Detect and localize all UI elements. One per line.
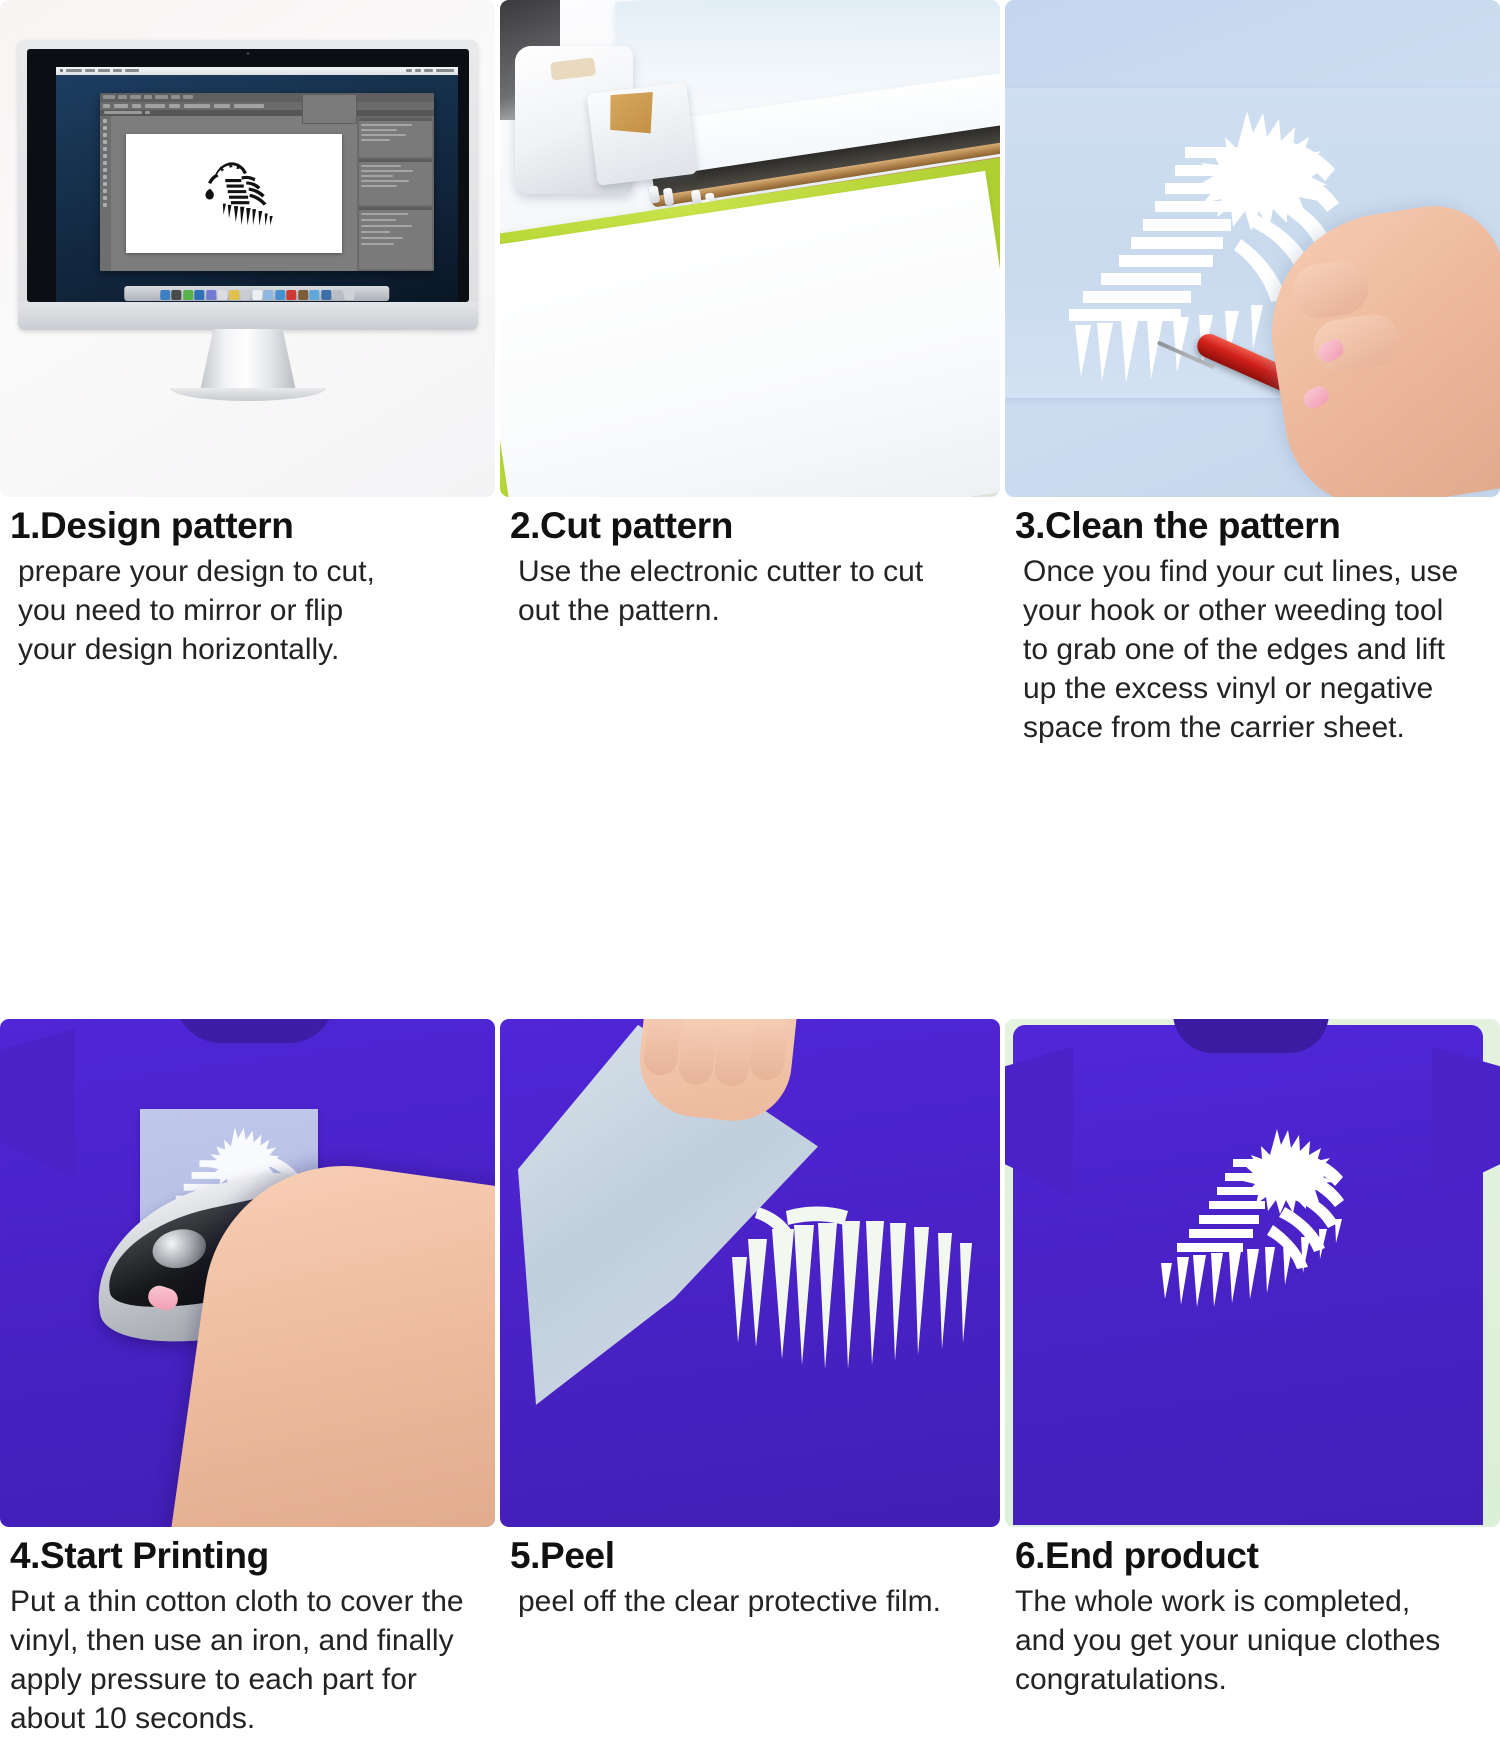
option-control bbox=[234, 104, 264, 108]
step-body-6: The whole work is completed, and you get… bbox=[1015, 1582, 1492, 1699]
step-body-4: Put a thin cotton cloth to cover the vin… bbox=[10, 1582, 487, 1738]
step-title-1: 1.Design pattern bbox=[10, 507, 487, 546]
appstore-icon bbox=[309, 290, 319, 300]
launchpad-icon bbox=[171, 290, 181, 300]
row-spacer bbox=[0, 747, 1500, 1019]
finger bbox=[677, 1019, 719, 1087]
dock bbox=[124, 286, 389, 301]
step-card-2: 2.Cut pattern Use the electronic cutter … bbox=[500, 0, 1000, 747]
step-body-2: Use the electronic cutter to cut out the… bbox=[510, 552, 992, 630]
mail-icon bbox=[183, 290, 193, 300]
app-menu-item bbox=[155, 95, 168, 99]
step-title-2: 2.Cut pattern bbox=[510, 507, 992, 546]
step-card-1: 1.Design pattern prepare your design to … bbox=[0, 0, 495, 747]
pen-tool-icon bbox=[103, 175, 107, 179]
step-body-1: prepare your design to cut, you need to … bbox=[10, 552, 487, 669]
step-body-line: your design horizontally. bbox=[18, 633, 339, 666]
peel-film-photo bbox=[500, 1019, 1000, 1527]
step-caption-6: 6.End product The whole work is complete… bbox=[1005, 1527, 1500, 1699]
menu-item bbox=[98, 69, 110, 72]
step-body-line: Once you find your cut lines, use bbox=[1023, 555, 1458, 588]
tool-palette bbox=[100, 116, 111, 272]
step-body-line: your hook or other weeding tool bbox=[1023, 594, 1443, 627]
crop-tool-icon bbox=[103, 147, 107, 151]
notes-icon bbox=[229, 290, 239, 300]
panel-dock bbox=[357, 116, 434, 272]
step-body-line: prepare your design to cut, bbox=[18, 555, 375, 588]
tshirt-collar bbox=[1173, 1019, 1329, 1053]
monitor-screen bbox=[27, 49, 469, 302]
color-panel bbox=[359, 118, 432, 157]
foreground-color-swatch bbox=[103, 203, 107, 207]
adjustments-panel bbox=[359, 159, 432, 205]
step-body-line: about 10 seconds. bbox=[10, 1702, 255, 1735]
brush-tool-icon bbox=[103, 154, 107, 158]
step-caption-3: 3.Clean the pattern Once you find your c… bbox=[1005, 497, 1500, 747]
menu-item bbox=[85, 69, 95, 72]
step-caption-2: 2.Cut pattern Use the electronic cutter … bbox=[500, 497, 1000, 630]
floating-palette bbox=[302, 94, 357, 125]
step-body-line: and you get your unique clothes bbox=[1015, 1624, 1440, 1657]
vinyl-cutter-photo bbox=[500, 0, 1000, 497]
instruction-sheet: 1.Design pattern prepare your design to … bbox=[0, 0, 1500, 1479]
text-tool-icon bbox=[103, 182, 107, 186]
apple-menu-icon bbox=[60, 69, 63, 72]
weeding-photo bbox=[1005, 0, 1500, 497]
option-control bbox=[145, 104, 165, 108]
app-menu-item bbox=[130, 95, 141, 99]
tshirt-sleeve-right bbox=[1432, 1047, 1500, 1197]
status-icon bbox=[415, 69, 421, 72]
itunes-icon bbox=[298, 290, 308, 300]
lasso-tool-icon bbox=[103, 133, 107, 137]
app-menu-item bbox=[183, 95, 193, 99]
menu-item bbox=[113, 69, 122, 72]
app-title-bar bbox=[100, 93, 434, 102]
webcam-icon bbox=[247, 52, 250, 55]
close-icon bbox=[145, 111, 150, 114]
photos-icon bbox=[286, 290, 296, 300]
canvas-area bbox=[111, 116, 357, 272]
app-menu-item bbox=[144, 95, 152, 99]
step-card-5: 5.Peel peel off the clear protective fil… bbox=[500, 1019, 1000, 1738]
finished-shirt-photo bbox=[1005, 1019, 1500, 1527]
step-body-line: congratulations. bbox=[1015, 1663, 1227, 1696]
photo-editor-window bbox=[100, 93, 434, 272]
step-title-5: 5.Peel bbox=[510, 1537, 992, 1576]
option-control bbox=[169, 104, 180, 108]
monitor-chin bbox=[18, 302, 478, 330]
revealed-zebra-stripes bbox=[728, 1195, 1000, 1415]
step-body-line: apply pressure to each part for bbox=[10, 1663, 417, 1696]
step-title-6: 6.End product bbox=[1015, 1537, 1492, 1576]
facetime-icon bbox=[275, 290, 285, 300]
step-card-6: 6.End product The whole work is complete… bbox=[1005, 1019, 1500, 1738]
maps-icon bbox=[252, 290, 262, 300]
zebra-artwork bbox=[156, 147, 312, 239]
option-control bbox=[214, 104, 230, 108]
settings-icon bbox=[332, 290, 342, 300]
step-body-line: out the pattern. bbox=[518, 594, 720, 627]
status-icon bbox=[424, 69, 433, 72]
step-body-line: space from the carrier sheet. bbox=[1023, 711, 1405, 744]
contacts-icon bbox=[206, 290, 216, 300]
monitor-stand-foot bbox=[170, 388, 326, 401]
editor-body bbox=[100, 116, 434, 272]
step-caption-4: 4.Start Printing Put a thin cotton cloth… bbox=[0, 1527, 495, 1738]
step-body-3: Once you find your cut lines, use your h… bbox=[1015, 552, 1492, 747]
reminders-icon bbox=[240, 290, 250, 300]
marquee-tool-icon bbox=[103, 126, 107, 130]
step-card-4: 4.Start Printing Put a thin cotton cloth… bbox=[0, 1019, 495, 1738]
finger bbox=[713, 1019, 755, 1088]
step-body-line: peel off the clear protective film. bbox=[518, 1585, 941, 1618]
steps-row-top: 1.Design pattern prepare your design to … bbox=[0, 0, 1500, 747]
steps-row-bottom: 4.Start Printing Put a thin cotton cloth… bbox=[0, 1019, 1500, 1738]
design-software-photo bbox=[0, 0, 495, 497]
wand-tool-icon bbox=[103, 140, 107, 144]
step-body-line: vinyl, then use an iron, and finally bbox=[10, 1624, 454, 1657]
trash-icon bbox=[344, 290, 354, 300]
step-title-4: 4.Start Printing bbox=[10, 1537, 487, 1576]
step-body-line: you need to mirror or flip bbox=[18, 594, 343, 627]
step-title-3: 3.Clean the pattern bbox=[1015, 507, 1492, 546]
option-control bbox=[114, 104, 128, 108]
zebra-print-design bbox=[1137, 1117, 1387, 1327]
shape-tool-icon bbox=[103, 189, 107, 193]
step-caption-5: 5.Peel peel off the clear protective fil… bbox=[500, 1527, 1000, 1621]
fingernail bbox=[1300, 383, 1332, 412]
desktop-wallpaper bbox=[56, 67, 458, 302]
finder-icon bbox=[160, 290, 170, 300]
finger bbox=[748, 1019, 790, 1082]
calendar-icon bbox=[217, 290, 227, 300]
status-icon bbox=[406, 69, 412, 72]
messages-icon bbox=[263, 290, 273, 300]
safari-icon bbox=[194, 290, 204, 300]
ironing-photo bbox=[0, 1019, 495, 1527]
document-tab-label bbox=[104, 111, 142, 114]
app-menu-item bbox=[118, 95, 127, 99]
options-bar bbox=[100, 102, 434, 110]
menu-bar bbox=[56, 67, 458, 75]
step-body-line: Use the electronic cutter to cut bbox=[518, 555, 923, 588]
knuckle bbox=[1289, 257, 1373, 322]
layers-panel bbox=[359, 207, 432, 270]
move-tool-icon bbox=[103, 119, 107, 123]
step-card-3: 3.Clean the pattern Once you find your c… bbox=[1005, 0, 1500, 747]
blade-slot bbox=[550, 57, 596, 80]
artboard bbox=[126, 134, 343, 252]
app-menu-item bbox=[103, 95, 115, 99]
clock-text bbox=[436, 69, 454, 72]
monitor-bezel bbox=[18, 40, 478, 330]
step-caption-1: 1.Design pattern prepare your design to … bbox=[0, 497, 495, 669]
step-body-line: to grab one of the edges and lift bbox=[1023, 633, 1445, 666]
eraser-tool-icon bbox=[103, 161, 107, 165]
imac-illustration bbox=[18, 40, 478, 330]
monitor-stand-neck bbox=[200, 329, 296, 391]
step-body-5: peel off the clear protective film. bbox=[510, 1582, 992, 1621]
app-menu-item bbox=[171, 95, 180, 99]
zoom-tool-icon bbox=[103, 196, 107, 200]
step-body-line: up the excess vinyl or negative bbox=[1023, 672, 1433, 705]
option-control bbox=[184, 104, 210, 108]
photoshop-icon bbox=[321, 290, 331, 300]
option-control bbox=[103, 104, 110, 108]
option-control bbox=[132, 104, 141, 108]
gradient-tool-icon bbox=[103, 168, 107, 172]
white-vinyl-sheet bbox=[500, 171, 1000, 497]
menu-item bbox=[66, 69, 82, 72]
step-body-line: The whole work is completed, bbox=[1015, 1585, 1410, 1618]
step-body-line: Put a thin cotton cloth to cover the bbox=[10, 1585, 464, 1618]
menu-item bbox=[125, 69, 139, 72]
